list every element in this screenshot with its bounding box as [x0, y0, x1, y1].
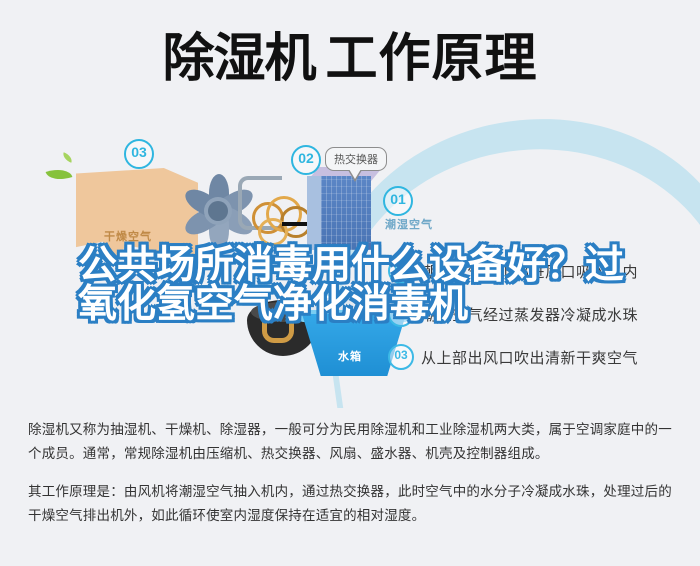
- airflow-arrow-icon: [282, 222, 308, 226]
- article-body: 除湿机又称为抽湿机、干燥机、除湿器，一般可分为民用除湿机和工业除湿机两大类，属于…: [28, 418, 676, 542]
- water-tank-label: 水箱: [338, 348, 362, 364]
- legend-item: 03 从上部出风口吹出清新干爽空气: [388, 344, 688, 370]
- diagram-badge-01: 01: [383, 186, 413, 216]
- heat-exchanger-fins: [321, 176, 371, 250]
- hero-title: 除湿机工作原理: [0, 28, 700, 90]
- diagram-badge-02: 02: [291, 145, 321, 175]
- overlay-headline: 公共场所消毒用什么设备好？过氧化氢空气净化消毒机: [78, 246, 638, 324]
- diagram-badge-03: 03: [124, 139, 154, 169]
- hero-title-part1: 除湿机: [162, 29, 315, 89]
- hero-infographic: 除湿机工作原理 干燥空气 03: [0, 0, 700, 408]
- heat-exchanger-callout: 热交换器: [325, 147, 387, 171]
- page-root: 除湿机工作原理 干燥空气 03: [0, 0, 700, 566]
- heat-exchanger-graphic: [307, 176, 371, 250]
- dry-air-label: 干燥空气: [104, 228, 152, 244]
- fan-hub: [208, 201, 228, 221]
- legend-label: 从上部出风口吹出清新干爽空气: [421, 347, 638, 368]
- leaf-icon: [61, 152, 74, 163]
- hero-title-part2: 工作原理: [326, 29, 538, 89]
- legend-number: 03: [388, 344, 414, 370]
- leaf-icon: [46, 165, 73, 185]
- article-paragraph-2: 其工作原理是：由风机将潮湿空气抽入机内，通过热交换器，此时空气中的水分子冷凝成水…: [28, 480, 676, 528]
- heat-exchanger-side: [307, 176, 321, 250]
- humid-air-label: 潮湿空气: [385, 216, 433, 232]
- article-paragraph-1: 除湿机又称为抽湿机、干燥机、除湿器，一般可分为民用除湿机和工业除湿机两大类，属于…: [28, 418, 676, 466]
